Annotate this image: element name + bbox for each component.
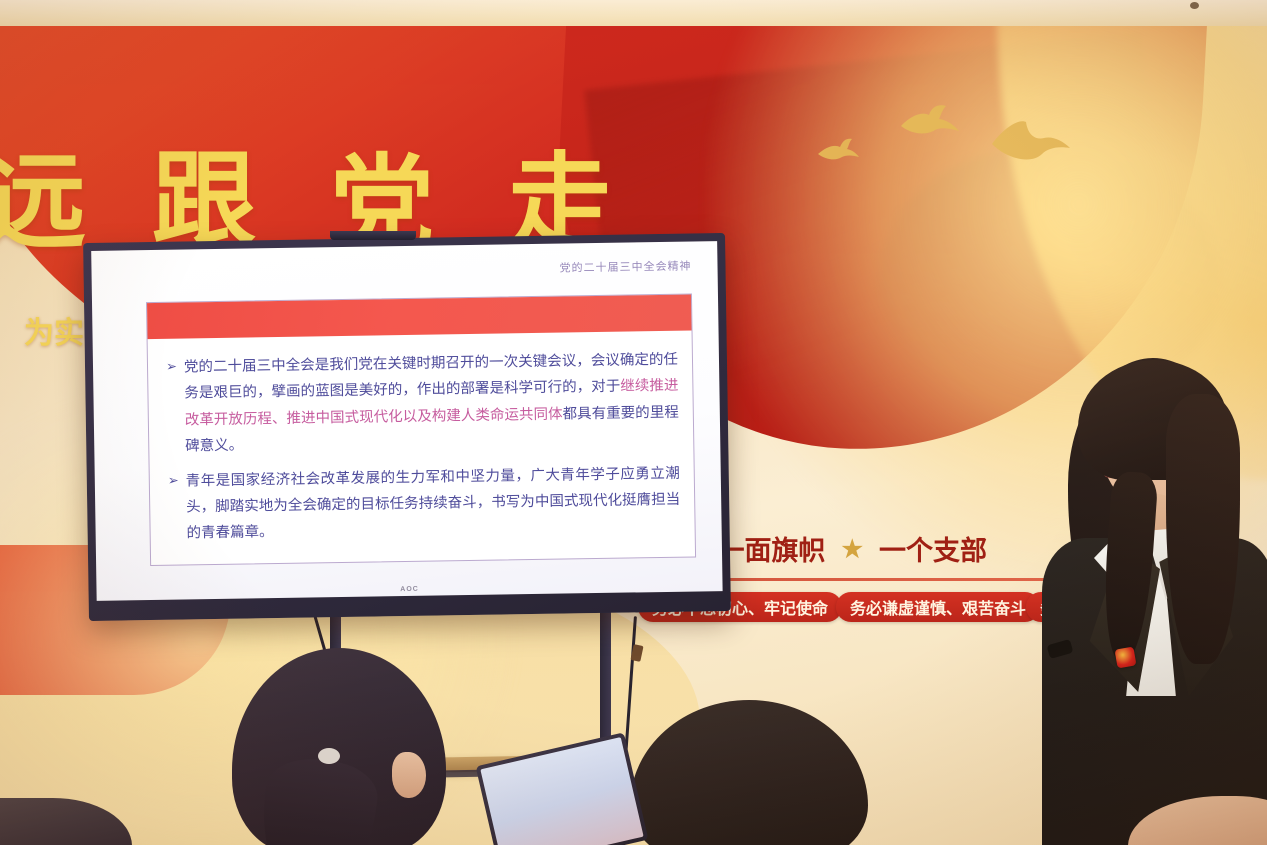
slide-content-frame: ➢ 党的二十届三中全会是我们党在关键时期召开的一次关键会议，会议确定的任务是艰巨…	[146, 294, 696, 567]
monitor-bezel: 党的二十届三中全会精神 ➢ 党的二十届三中全会是我们党在关键时期召开的一次关键会…	[83, 233, 731, 621]
presenter-person	[1020, 352, 1267, 845]
ceiling-fixture-icon	[1190, 2, 1199, 9]
monitor-brand-logo: AOC	[400, 586, 419, 593]
slide-bullet-2: ➢ 青年是国家经济社会改革发展的生力军和中坚力量，广大青年学子应勇立潮头，脚踏实…	[168, 460, 681, 547]
monitor-screen[interactable]: 党的二十届三中全会精神 ➢ 党的二十届三中全会是我们党在关键时期召开的一次关键会…	[91, 241, 722, 601]
slide-canvas: 党的二十届三中全会精神 ➢ 党的二十届三中全会是我们党在关键时期召开的一次关键会…	[91, 241, 722, 601]
audience-member-ear-1	[392, 752, 426, 798]
wall-calligraphy-subtitle: 为实	[24, 308, 84, 352]
hair-tie-icon	[318, 748, 340, 764]
party-emblem-pin-icon	[1114, 646, 1136, 668]
bullet-1-segment-1: 党的二十届三中全会是我们党在关键时期召开的一次关键会议，会议确定的任务是艰巨的，…	[184, 352, 678, 402]
slide-bullet-1: ➢ 党的二十届三中全会是我们党在关键时期召开的一次关键会议，会议确定的任务是艰巨…	[166, 347, 680, 461]
star-icon-2: ★	[842, 534, 864, 563]
bullet-arrow-icon-2: ➢	[168, 468, 180, 547]
slide-kicker-text: 党的二十届三中全会精神	[559, 258, 691, 276]
bullet-text-2: 青年是国家经济社会改革发展的生力军和中坚力量，广大青年学子应勇立潮头，脚踏实地为…	[186, 460, 681, 547]
presentation-monitor[interactable]: 党的二十届三中全会精神 ➢ 党的二十届三中全会是我们党在关键时期召开的一次关键会…	[83, 233, 731, 621]
bullet-arrow-icon-1: ➢	[166, 355, 179, 461]
dove-icon-large	[988, 116, 1072, 166]
monitor-camera-bar	[330, 231, 416, 240]
wall-calligraphy-char-1: 远	[0, 150, 88, 254]
wall-pill-2: 务必谦虚谨慎、艰苦奋斗	[836, 592, 1040, 622]
dove-icon-small	[816, 138, 860, 164]
slide-body: ➢ 党的二十届三中全会是我们党在关键时期召开的一次关键会议，会议确定的任务是艰巨…	[166, 347, 681, 557]
ceiling-strip	[0, 0, 1267, 26]
wall-calligraphy-char-2: 跟	[152, 148, 258, 252]
bullet-2-segment-1: 青年是国家经济社会改革发展的生力军和中坚力量，广大青年学子应勇立潮头，脚踏实地为…	[186, 465, 681, 542]
dove-icon-medium	[898, 104, 960, 140]
slogan-part-2: 一面旗帜	[718, 529, 826, 568]
slogan-part-3: 一个支部	[879, 529, 987, 568]
presenter-hair-side	[1166, 394, 1240, 664]
presentation-photo-scene: 远 跟 党 走 为实 党员 ★ 一面旗帜 ★ 一个支部 务必不忘初心、牢记使命 …	[0, 0, 1267, 845]
bullet-text-1: 党的二十届三中全会是我们党在关键时期召开的一次关键会议，会议确定的任务是艰巨的，…	[184, 347, 680, 460]
slide-header-bar	[147, 295, 691, 340]
